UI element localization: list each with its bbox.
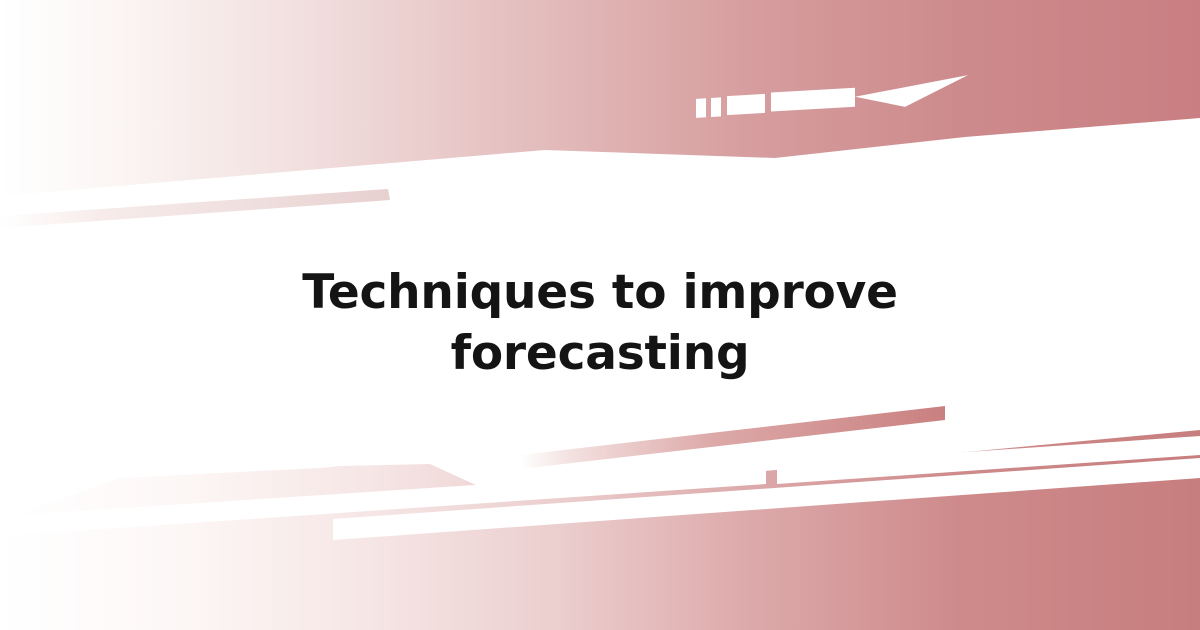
bottom-decoration-group [0,400,1200,630]
bottom-rose-mass [0,400,1200,630]
top-rose-band [0,0,1200,200]
decorative-graphics-layer [0,0,1200,630]
top-decoration-group [0,0,1200,228]
banner-canvas: Techniques to improve forecasting [0,0,1200,630]
